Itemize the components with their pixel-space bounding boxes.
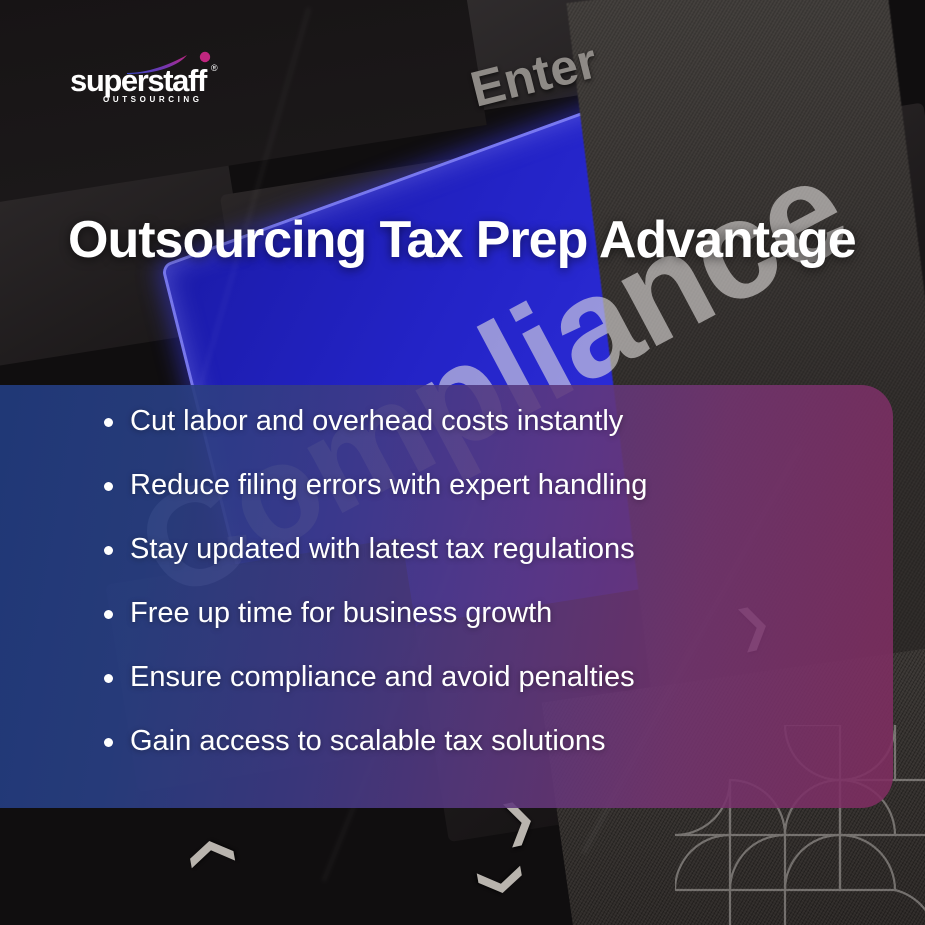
list-item: Free up time for business growth bbox=[96, 599, 863, 628]
registered-trademark-icon: ® bbox=[211, 63, 218, 73]
arrow-key-chevron-icon: ❯ bbox=[180, 831, 237, 876]
logo-wordmark: superstaff bbox=[70, 65, 206, 96]
list-item: Cut labor and overhead costs instantly bbox=[96, 407, 863, 436]
logo-tagline: OUTSOURCING bbox=[103, 95, 203, 104]
brand-logo[interactable]: superstaff ® OUTSOURCING bbox=[70, 55, 250, 103]
benefits-list: Cut labor and overhead costs instantly R… bbox=[96, 407, 863, 791]
poster-canvas: Enter ❯ ❯ ❯ ❯ Compliance bbox=[0, 0, 925, 925]
arrow-key-chevron-icon: ❯ bbox=[475, 858, 532, 903]
list-item: Ensure compliance and avoid penalties bbox=[96, 663, 863, 692]
benefits-panel: Cut labor and overhead costs instantly R… bbox=[0, 385, 893, 808]
list-item: Reduce filing errors with expert handlin… bbox=[96, 471, 863, 500]
page-title: Outsourcing Tax Prep Advantage bbox=[68, 212, 868, 269]
list-item: Gain access to scalable tax solutions bbox=[96, 727, 863, 756]
list-item: Stay updated with latest tax regulations bbox=[96, 535, 863, 564]
